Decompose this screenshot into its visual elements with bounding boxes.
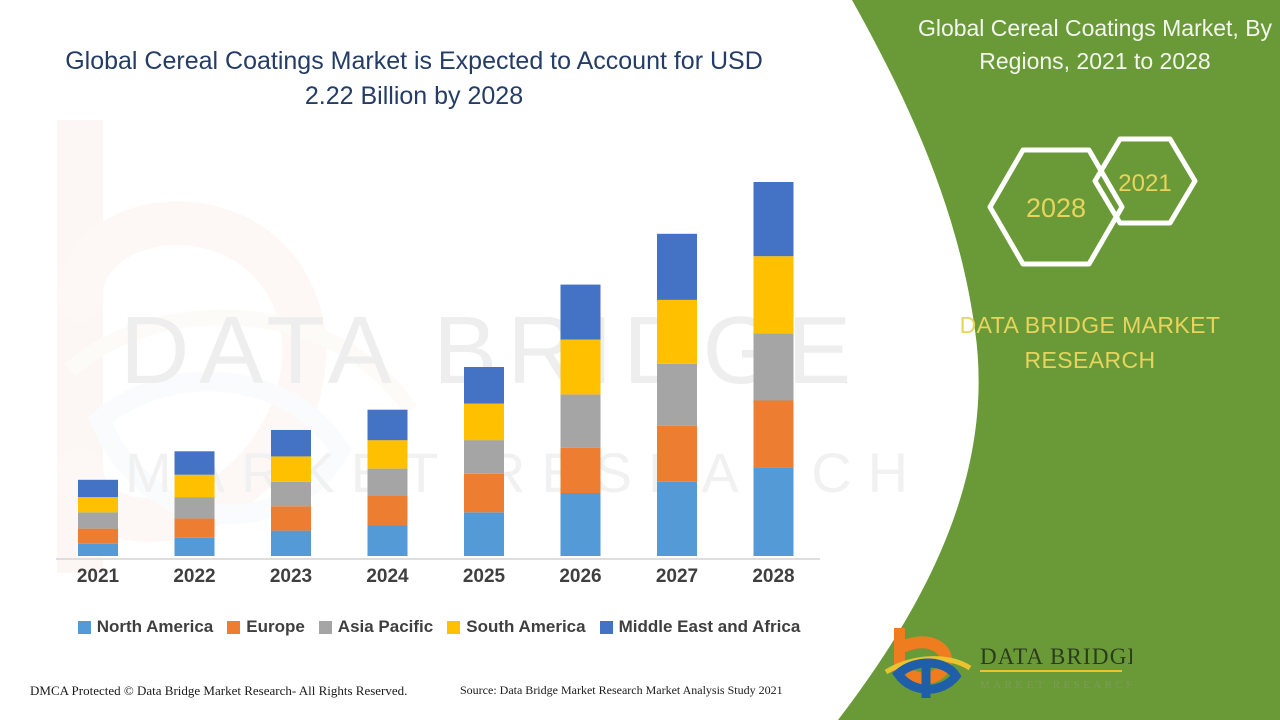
bar-segment — [657, 300, 697, 364]
hexagon-badges: 2028 2021 — [960, 135, 1280, 280]
bar-segment — [368, 496, 408, 526]
bar-segment — [175, 538, 215, 556]
x-axis-label: 2027 — [637, 566, 717, 588]
bar-segment — [78, 544, 118, 556]
legend-item[interactable]: Asia Pacific — [319, 617, 433, 637]
legend-swatch-icon — [447, 621, 460, 634]
bar-segment — [464, 474, 504, 513]
bar-segment — [78, 497, 118, 512]
green-panel-content: Global Cereal Coatings Market, By Region… — [860, 0, 1280, 720]
x-axis-label: 2026 — [541, 566, 621, 588]
x-axis-label: 2022 — [155, 566, 235, 588]
bar-segment — [175, 451, 215, 474]
legend-swatch-icon — [227, 621, 240, 634]
stacked-bar-chart — [0, 150, 840, 570]
logo-subtitle: MARKET RESEARCH — [980, 679, 1132, 691]
bar-segment — [271, 456, 311, 481]
hexagon-label-small: 2021 — [1118, 170, 1171, 197]
bar-segment — [754, 401, 794, 468]
bar-segment — [368, 440, 408, 469]
bar-segment — [78, 512, 118, 528]
legend-label: North America — [97, 617, 214, 637]
panel-title: Global Cereal Coatings Market, By Region… — [900, 12, 1280, 77]
bar-segment — [271, 531, 311, 556]
bar-segment — [368, 410, 408, 441]
legend-swatch-icon — [600, 621, 613, 634]
bar-segment — [657, 426, 697, 482]
bar-segment — [657, 364, 697, 426]
legend-item[interactable]: Middle East and Africa — [600, 617, 801, 637]
chart-legend: North AmericaEuropeAsia PacificSouth Ame… — [44, 617, 834, 637]
bar-segment — [175, 475, 215, 497]
logo-title: DATA BRIDGE — [980, 644, 1132, 669]
infographic-root: DATA BRIDGE MARKET RESEARCH Global Cerea… — [0, 0, 1280, 720]
footer: DMCA Protected © Data Bridge Market Rese… — [0, 683, 840, 709]
bar-segment — [561, 285, 601, 340]
bar-segment — [271, 506, 311, 530]
bar-segment — [78, 480, 118, 497]
bar-segment — [657, 482, 697, 556]
footer-source-text: Source: Data Bridge Market Research Mark… — [460, 683, 783, 698]
data-bridge-logo: DATA BRIDGE MARKET RESEARCH — [882, 622, 1132, 706]
bar-segment — [754, 468, 794, 556]
x-axis-label: 2025 — [444, 566, 524, 588]
legend-label: South America — [466, 617, 585, 637]
bar-segment — [561, 394, 601, 447]
bar-segment — [754, 256, 794, 333]
bar-segment — [175, 518, 215, 537]
hexagon-label-large: 2028 — [1026, 193, 1086, 223]
legend-item[interactable]: South America — [447, 617, 585, 637]
bar-segment — [561, 447, 601, 493]
bar-segment — [464, 440, 504, 474]
legend-swatch-icon — [319, 621, 332, 634]
bar-segment — [464, 512, 504, 556]
legend-item[interactable]: North America — [78, 617, 214, 637]
bar-segment — [754, 333, 794, 400]
bar-segment — [464, 404, 504, 441]
legend-label: Asia Pacific — [338, 617, 433, 637]
bar-segment — [657, 234, 697, 300]
data-bridge-logo-svg: DATA BRIDGE MARKET RESEARCH — [882, 622, 1132, 706]
bar-segment — [78, 529, 118, 544]
bar-segment — [368, 526, 408, 557]
bar-segment — [754, 182, 794, 256]
bar-segment — [464, 367, 504, 404]
chart-bars-group — [78, 182, 794, 556]
legend-label: Europe — [246, 617, 305, 637]
x-axis-label: 2021 — [58, 566, 138, 588]
hexagon-badges-svg: 2028 2021 — [960, 135, 1280, 280]
legend-label: Middle East and Africa — [619, 617, 801, 637]
chart-canvas — [0, 150, 840, 570]
legend-swatch-icon — [78, 621, 91, 634]
page-title: Global Cereal Coatings Market is Expecte… — [44, 44, 784, 113]
bar-segment — [271, 430, 311, 456]
bar-segment — [561, 340, 601, 395]
chart-x-axis-labels: 20212022202320242025202620272028 — [0, 566, 840, 596]
bar-segment — [271, 482, 311, 506]
bar-segment — [368, 469, 408, 496]
x-axis-label: 2028 — [734, 566, 814, 588]
x-axis-label: 2023 — [251, 566, 331, 588]
bar-segment — [175, 497, 215, 518]
bar-segment — [561, 493, 601, 556]
brand-name: DATA BRIDGE MARKET RESEARCH — [900, 308, 1280, 377]
footer-dmca-text: DMCA Protected © Data Bridge Market Rese… — [30, 683, 407, 699]
legend-item[interactable]: Europe — [227, 617, 305, 637]
x-axis-label: 2024 — [348, 566, 428, 588]
